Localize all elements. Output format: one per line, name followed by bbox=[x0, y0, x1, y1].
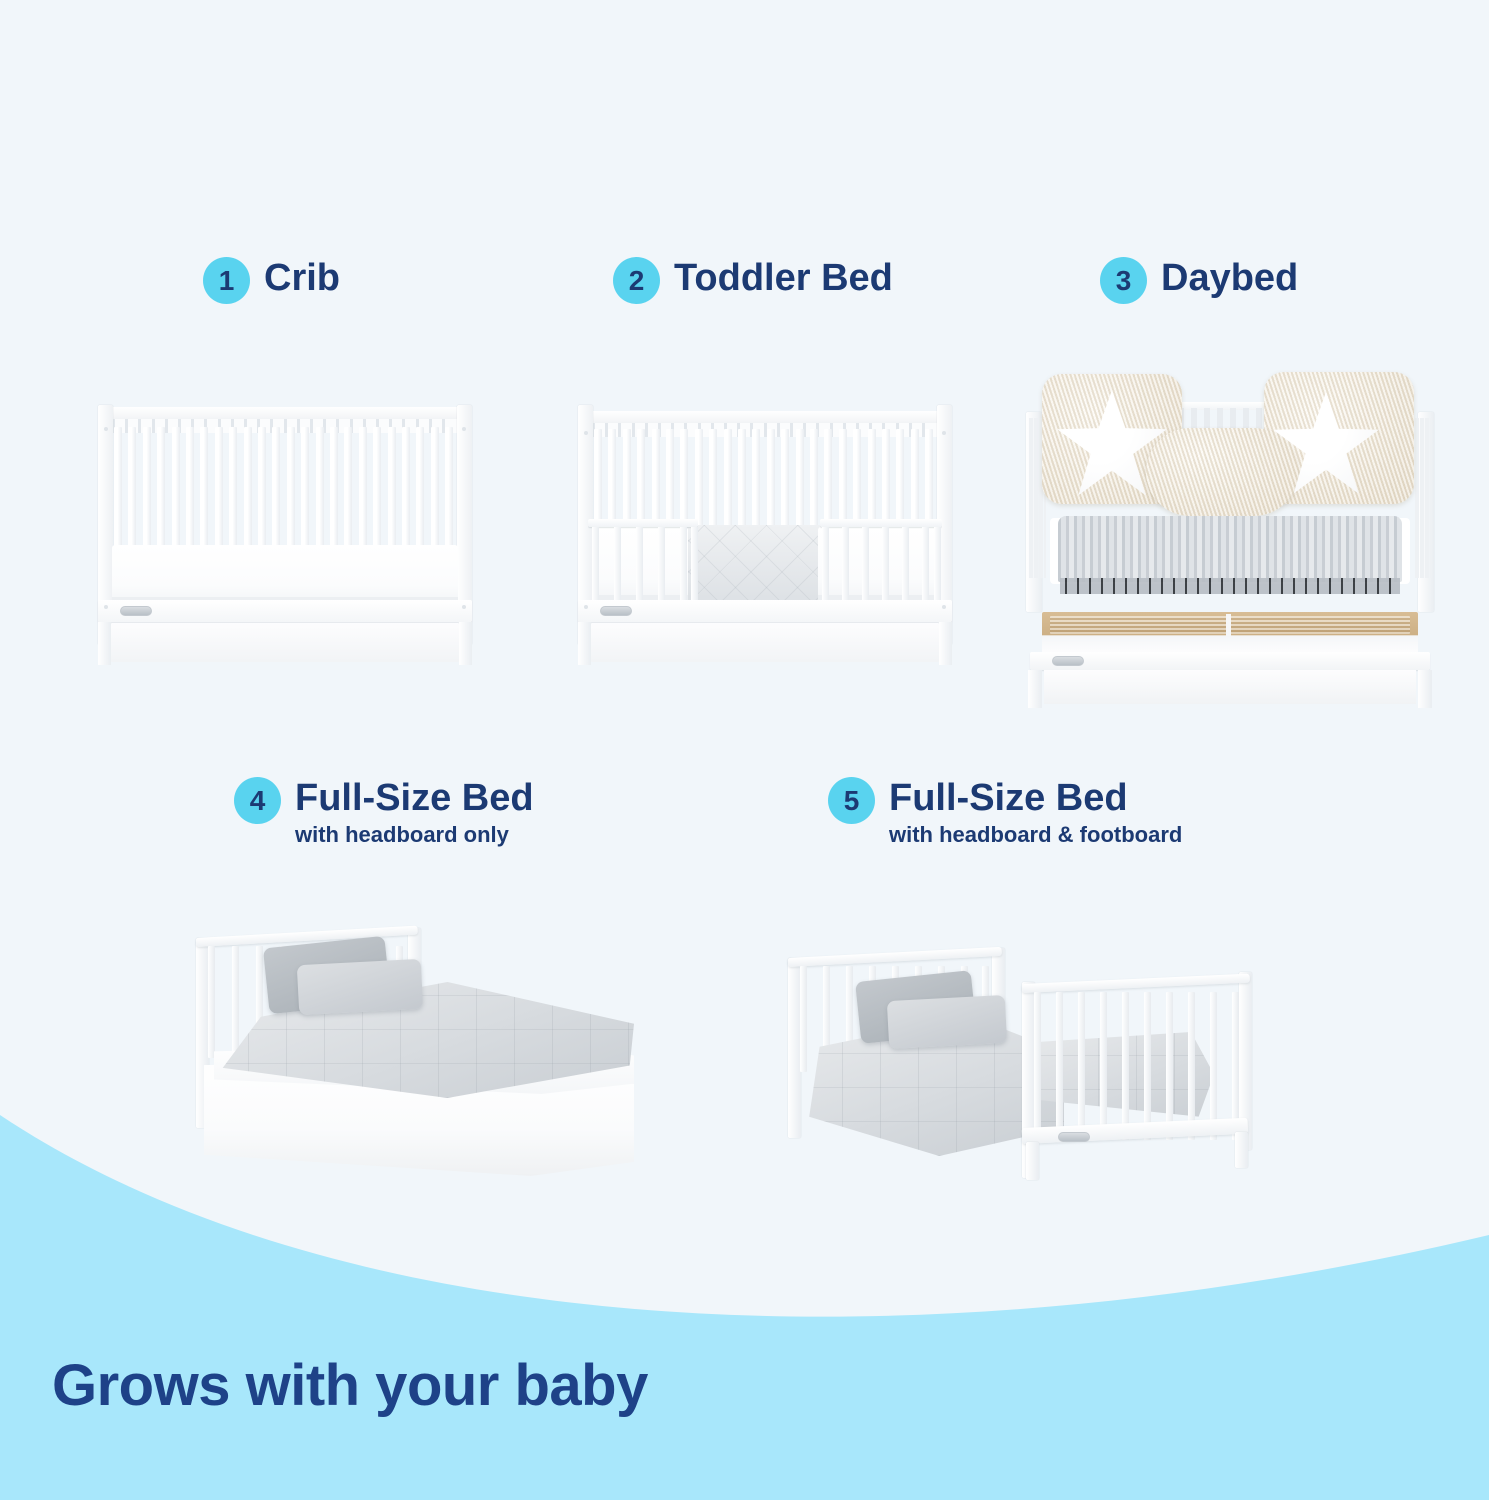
config-title-1: Crib bbox=[264, 255, 340, 301]
slat bbox=[853, 429, 861, 529]
slat bbox=[796, 429, 804, 529]
slat bbox=[652, 429, 660, 529]
pillow-front bbox=[297, 959, 423, 1015]
config-label-2: 2 Toddler Bed bbox=[613, 255, 893, 304]
full-bed-headboard-illustration bbox=[180, 920, 680, 1185]
daybed-illustration bbox=[1020, 368, 1440, 668]
config-label-4: 4 Full-Size Bed with headboard only bbox=[234, 775, 534, 848]
slat bbox=[680, 429, 688, 529]
slat bbox=[911, 429, 919, 529]
slat bbox=[810, 429, 818, 529]
slat bbox=[594, 429, 602, 529]
config-label-3: 3 Daybed bbox=[1100, 255, 1298, 304]
config-title-3: Daybed bbox=[1161, 255, 1298, 301]
slat bbox=[637, 429, 645, 529]
slat bbox=[738, 429, 746, 529]
slat bbox=[767, 429, 775, 529]
slat bbox=[882, 429, 890, 529]
slat bbox=[781, 429, 789, 529]
product-feature-image: 1 Crib 2 Toddler Bed 3 Daybed 4 Full-Siz… bbox=[0, 0, 1489, 1500]
config-label-5: 5 Full-Size Bed with headboard & footboa… bbox=[828, 775, 1182, 848]
step-badge-4: 4 bbox=[234, 777, 281, 824]
brand-logo-plate bbox=[1052, 656, 1084, 666]
brand-logo-plate bbox=[1058, 1132, 1090, 1142]
slat bbox=[709, 429, 717, 529]
storage-drawer-open bbox=[1042, 612, 1418, 654]
slat bbox=[1034, 418, 1038, 578]
config-subtitle-4: with headboard only bbox=[295, 822, 534, 848]
knit-blanket bbox=[1058, 516, 1402, 582]
config-title-2: Toddler Bed bbox=[674, 255, 893, 301]
tagline: Grows with your baby bbox=[52, 1352, 648, 1419]
slat bbox=[824, 429, 832, 529]
slat bbox=[1415, 418, 1419, 578]
slat bbox=[608, 429, 616, 529]
slat bbox=[868, 429, 876, 529]
crib-illustration bbox=[80, 397, 490, 669]
slat bbox=[925, 429, 933, 529]
toddler-guard-rail-left bbox=[588, 519, 698, 601]
config-subtitle-5: with headboard & footboard bbox=[889, 822, 1182, 848]
toddler-guard-rail-right bbox=[820, 519, 942, 601]
slat bbox=[1420, 418, 1424, 578]
slat bbox=[695, 429, 703, 529]
slat bbox=[666, 429, 674, 529]
step-badge-1: 1 bbox=[203, 257, 250, 304]
step-badge-2: 2 bbox=[613, 257, 660, 304]
full-bed-headboard-footboard-illustration bbox=[770, 920, 1270, 1195]
slat bbox=[1425, 418, 1429, 578]
step-badge-5: 5 bbox=[828, 777, 875, 824]
config-title-4: Full-Size Bed bbox=[295, 775, 534, 821]
slat bbox=[623, 429, 631, 529]
config-label-1: 1 Crib bbox=[203, 255, 340, 304]
fur-bolster-center bbox=[1146, 428, 1298, 516]
step-badge-3: 3 bbox=[1100, 257, 1147, 304]
slat bbox=[896, 429, 904, 529]
toddler-bed-illustration bbox=[560, 397, 970, 669]
slat bbox=[752, 429, 760, 529]
slat bbox=[1430, 418, 1432, 578]
pillow-front bbox=[887, 995, 1007, 1049]
slat bbox=[1029, 418, 1033, 578]
brand-logo-plate bbox=[120, 606, 152, 616]
slat bbox=[724, 429, 732, 529]
config-title-5: Full-Size Bed bbox=[889, 775, 1182, 821]
slat bbox=[839, 429, 847, 529]
brand-logo-plate bbox=[600, 606, 632, 616]
